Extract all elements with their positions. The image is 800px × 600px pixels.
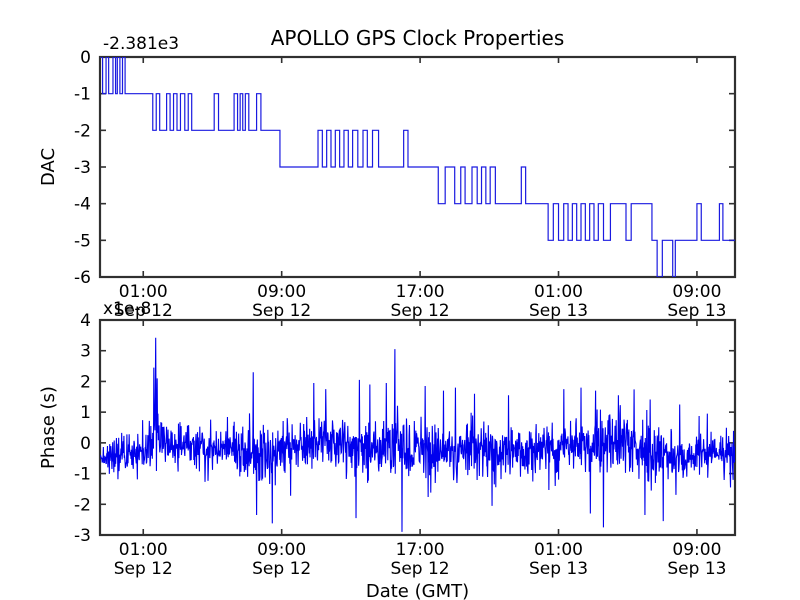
x-tick-label: 09:00: [672, 282, 721, 302]
x-tick-label: 01:00: [534, 540, 583, 560]
y-axis-title: DAC: [38, 148, 59, 186]
y-tick-label: 0: [80, 48, 91, 68]
plot-title: APOLLO GPS Clock Properties: [271, 26, 565, 50]
y-tick-label: 1: [80, 403, 91, 423]
y-tick-label: -1: [74, 465, 91, 485]
y-tick-label: 4: [80, 311, 91, 331]
y-tick-label: -2: [74, 121, 91, 141]
y-tick-label: -3: [74, 158, 91, 178]
y-multiplier-label: x1e-8: [103, 299, 151, 319]
y-axis-title: Phase (s): [38, 386, 59, 469]
x-tick-label: 09:00: [257, 540, 306, 560]
dac-panel: 0-1-2-3-4-5-601:00Sep 1209:00Sep 1217:00…: [38, 26, 735, 321]
x-tick-label: Sep 13: [667, 301, 726, 321]
y-tick-label: -4: [74, 195, 91, 215]
y-tick-label: -6: [74, 268, 91, 288]
x-tick-label: Sep 12: [252, 301, 311, 321]
x-tick-label: Sep 12: [252, 559, 311, 579]
chart-svg: 0-1-2-3-4-5-601:00Sep 1209:00Sep 1217:00…: [0, 0, 800, 600]
y-tick-label: -1: [74, 85, 91, 105]
y-tick-label: -2: [74, 495, 91, 515]
x-tick-label: 09:00: [672, 540, 721, 560]
x-tick-label: Sep 12: [391, 301, 450, 321]
x-tick-label: 01:00: [119, 540, 168, 560]
phase-panel: 43210-1-2-301:00Sep 1209:00Sep 1217:00Se…: [38, 299, 735, 600]
x-tick-label: 17:00: [396, 282, 445, 302]
x-tick-label: Sep 13: [529, 301, 588, 321]
y-offset-label: -2.381e3: [103, 34, 179, 54]
y-tick-label: -5: [74, 231, 91, 251]
x-tick-label: Sep 12: [391, 559, 450, 579]
y-tick-label: -3: [74, 526, 91, 546]
x-tick-label: 09:00: [257, 282, 306, 302]
x-axis-title: Date (GMT): [366, 581, 469, 600]
x-tick-label: Sep 12: [114, 559, 173, 579]
x-tick-label: 01:00: [534, 282, 583, 302]
phase-panel-frame: [100, 320, 735, 535]
x-tick-label: Sep 13: [667, 559, 726, 579]
y-tick-label: 3: [80, 342, 91, 362]
x-tick-label: Sep 13: [529, 559, 588, 579]
y-tick-label: 0: [80, 434, 91, 454]
y-tick-label: 2: [80, 372, 91, 392]
figure-canvas: 0-1-2-3-4-5-601:00Sep 1209:00Sep 1217:00…: [0, 0, 800, 600]
x-tick-label: 17:00: [396, 540, 445, 560]
